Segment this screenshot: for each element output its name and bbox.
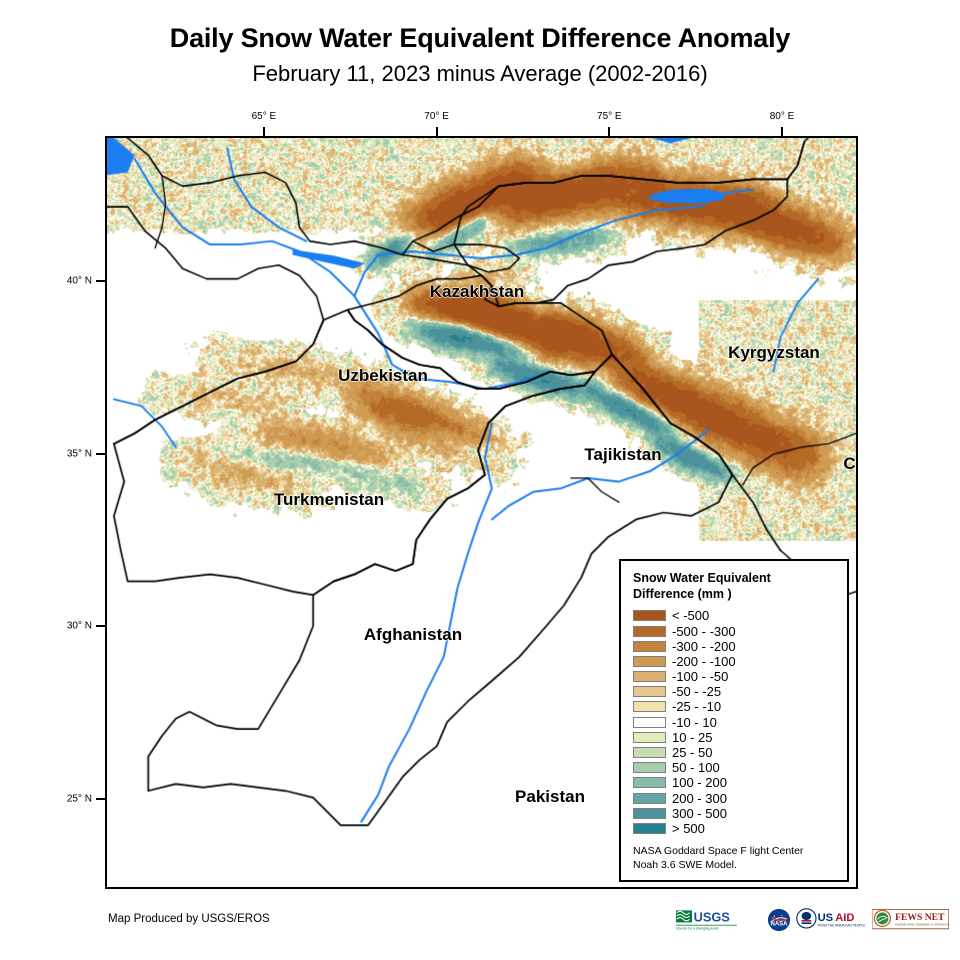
legend-swatch: [633, 610, 666, 621]
legend-row: 200 - 300: [633, 791, 837, 806]
legend-title: Snow Water Equivalent Difference (mm ): [633, 571, 837, 602]
lon-label-65: 65° E: [252, 111, 277, 122]
legend-row: -200 - -100: [633, 654, 837, 669]
lat-label-40: 40° N: [67, 276, 92, 287]
legend-label: -100 - -50: [672, 670, 728, 683]
legend-panel: Snow Water Equivalent Difference (mm ) <…: [619, 559, 849, 882]
title-block: Daily Snow Water Equivalent Difference A…: [0, 24, 960, 86]
legend-row: 100 - 200: [633, 775, 837, 790]
legend-row: 25 - 50: [633, 745, 837, 760]
legend-source-note: NASA Goddard Space F light Center Noah 3…: [633, 844, 837, 872]
legend-row: -500 - -300: [633, 623, 837, 638]
svg-text:NASA: NASA: [771, 922, 789, 928]
svg-text:AID: AID: [836, 912, 855, 924]
legend-swatch: [633, 641, 666, 652]
legend-row: > 500: [633, 821, 837, 836]
legend-row: -50 - -25: [633, 684, 837, 699]
legend-swatch: [633, 762, 666, 773]
lon-tick-65: [263, 127, 265, 136]
fews-net-logo: FEWS NET FAMINE EARLY WARNING SYSTEMS NE…: [872, 908, 949, 932]
legend-label: 100 - 200: [672, 776, 727, 789]
lon-label-70: 70° E: [424, 111, 449, 122]
legend-swatch: [633, 823, 666, 834]
legend-label: -10 - 10: [672, 716, 717, 729]
legend-row: -10 - 10: [633, 715, 837, 730]
legend-label: -200 - -100: [672, 655, 736, 668]
legend-row: 300 - 500: [633, 806, 837, 821]
svg-text:FEWS NET: FEWS NET: [895, 912, 945, 923]
legend-swatch: [633, 626, 666, 637]
lon-tick-70: [436, 127, 438, 136]
legend-row: 50 - 100: [633, 760, 837, 775]
legend-label: 200 - 300: [672, 792, 727, 805]
legend-swatch: [633, 747, 666, 758]
usgs-logo: USGS science for a changing world: [676, 908, 762, 932]
nasa-logo: NASA: [767, 908, 791, 932]
legend-swatch: [633, 686, 666, 697]
svg-text:FAMINE EARLY WARNING SYSTEMS N: FAMINE EARLY WARNING SYSTEMS NETWORK: [895, 923, 949, 927]
legend-class-list: < -500-500 - -300-300 - -200-200 - -100-…: [633, 608, 837, 836]
svg-text:US: US: [818, 912, 834, 924]
lat-tick-25: [96, 798, 105, 800]
legend-swatch: [633, 777, 666, 788]
legend-label: 25 - 50: [672, 746, 712, 759]
legend-row: -25 - -10: [633, 699, 837, 714]
legend-swatch: [633, 671, 666, 682]
usaid-logo: US AID FROM THE AMERICAN PEOPLE: [796, 908, 866, 932]
agency-logo-strip: USGS science for a changing world NASA U…: [676, 907, 949, 933]
legend-swatch: [633, 808, 666, 819]
legend-row: -300 - -200: [633, 639, 837, 654]
legend-swatch: [633, 793, 666, 804]
legend-row: < -500: [633, 608, 837, 623]
legend-label: -50 - -25: [672, 685, 721, 698]
legend-row: -100 - -50: [633, 669, 837, 684]
legend-label: 10 - 25: [672, 731, 712, 744]
legend-swatch: [633, 732, 666, 743]
lon-tick-80: [781, 127, 783, 136]
legend-label: -300 - -200: [672, 640, 736, 653]
legend-label: 50 - 100: [672, 761, 720, 774]
lat-label-30: 30° N: [67, 621, 92, 632]
legend-swatch: [633, 701, 666, 712]
lon-label-75: 75° E: [597, 111, 622, 122]
lat-label-35: 35° N: [67, 448, 92, 459]
lat-tick-30: [96, 625, 105, 627]
legend-row: 10 - 25: [633, 730, 837, 745]
lat-label-25: 25° N: [67, 794, 92, 805]
lat-tick-35: [96, 453, 105, 455]
legend-swatch: [633, 717, 666, 728]
legend-label: 300 - 500: [672, 807, 727, 820]
legend-label: -500 - -300: [672, 625, 736, 638]
svg-text:science for a changing world: science for a changing world: [676, 927, 719, 931]
svg-text:FROM THE AMERICAN PEOPLE: FROM THE AMERICAN PEOPLE: [818, 923, 866, 927]
legend-swatch: [633, 656, 666, 667]
lon-label-80: 80° E: [770, 111, 795, 122]
lat-tick-40: [96, 280, 105, 282]
page-title: Daily Snow Water Equivalent Difference A…: [0, 24, 960, 54]
legend-label: < -500: [672, 609, 709, 622]
legend-label: > 500: [672, 822, 705, 835]
svg-text:USGS: USGS: [694, 910, 731, 925]
lon-tick-75: [608, 127, 610, 136]
map-credit: Map Produced by USGS/EROS: [108, 913, 270, 925]
page-subtitle: February 11, 2023 minus Average (2002-20…: [0, 62, 960, 86]
legend-label: -25 - -10: [672, 700, 721, 713]
